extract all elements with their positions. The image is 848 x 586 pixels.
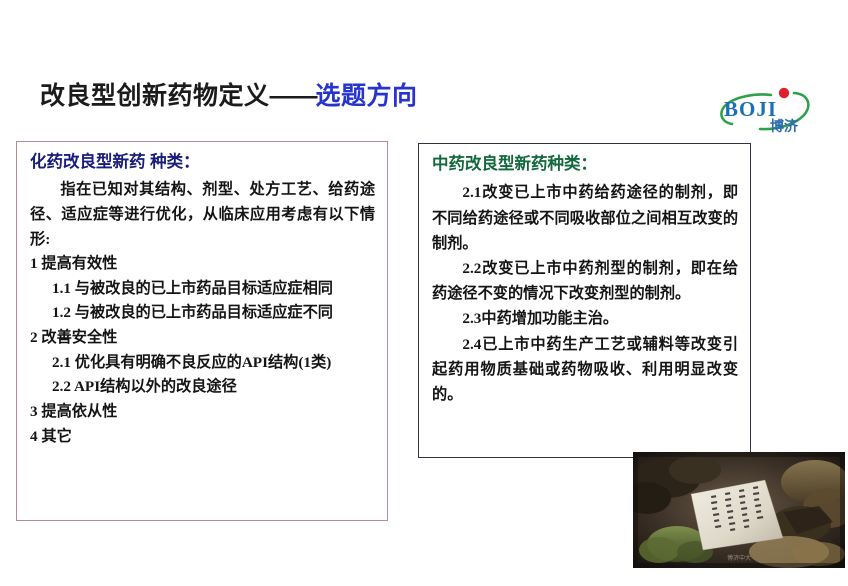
list-item: 2.1 优化具有明确不良反应的API结构(1类) <box>30 351 375 376</box>
list-item: 1.2 与被改良的已上市药品目标适应症不同 <box>30 301 375 326</box>
right-content-box: 中药改良型新药种类： 2.1改变已上市中药给药途径的制剂，即不同给药途径或不同吸… <box>418 143 751 458</box>
left-box-list: 1 提高有效性 1.1 与被改良的已上市药品目标适应症相同 1.2 与被改良的已… <box>30 252 375 449</box>
left-box-paragraph: 指在已知对其结构、剂型、处方工艺、给药途径、适应症等进行优化，从临床应用考虑有以… <box>30 178 375 252</box>
right-box-heading: 中药改良型新药种类： <box>432 153 738 175</box>
right-box-item: 2.1改变已上市中药给药途径的制剂，即不同给药途径或不同吸收部位之间相互改变的制… <box>432 180 738 256</box>
page-title-main: 改良型创新药物定义 <box>40 82 270 110</box>
list-item: 1.1 与被改良的已上市药品目标适应症相同 <box>30 277 375 302</box>
list-item: 1 提高有效性 <box>30 252 375 277</box>
right-box-item: 2.2改变已上市中药剂型的制剂，即在给药途径不变的情况下改变剂型的制剂。 <box>432 256 738 306</box>
page-title-accent: 选题方向 <box>316 82 418 110</box>
list-item: 3 提高依从性 <box>30 400 375 425</box>
photo-caption: 博济中大 <box>727 554 751 562</box>
slide-canvas: 改良型创新药物定义——选题方向 BOJI 博济 化药改良型新药 种类： 指在已知… <box>0 0 848 586</box>
list-item: 2 改善安全性 <box>30 326 375 351</box>
page-title-dash: —— <box>270 82 316 110</box>
svg-text:博济: 博济 <box>770 118 799 134</box>
right-box-item: 2.3中药增加功能主治。 <box>432 306 738 331</box>
page-title: 改良型创新药物定义——选题方向 <box>40 84 418 109</box>
left-box-heading: 化药改良型新药 种类： <box>30 151 375 173</box>
list-item: 2.2 API结构以外的改良途径 <box>30 375 375 400</box>
chinese-herbal-medicine-photo: 博济中大 <box>633 452 845 568</box>
list-item: 4 其它 <box>30 425 375 450</box>
boji-logo: BOJI 博济 <box>708 84 820 136</box>
left-content-box: 化药改良型新药 种类： 指在已知对其结构、剂型、处方工艺、给药途径、适应症等进行… <box>16 141 388 521</box>
right-box-item: 2.4已上市中药生产工艺或辅料等改变引起药用物质基础或药物吸收、利用明显改变的。 <box>432 332 738 408</box>
